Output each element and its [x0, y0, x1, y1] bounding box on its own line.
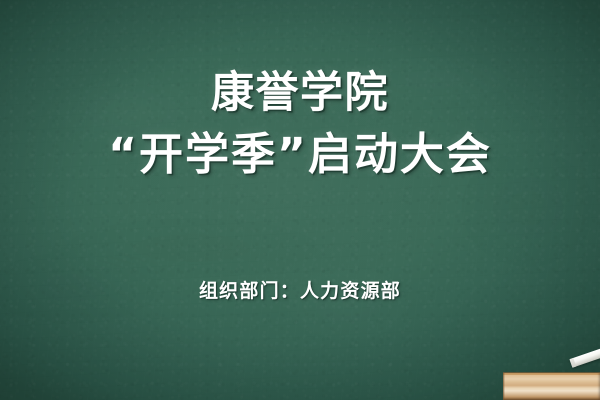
slide-content: 康誉学院 “开学季”启动大会 组织部门：人力资源部 [0, 0, 600, 400]
title-slide: 康誉学院 “开学季”启动大会 组织部门：人力资源部 [0, 0, 600, 400]
slide-title-block: 康誉学院 “开学季”启动大会 [0, 62, 600, 186]
chalk-ledge-left-edge [503, 373, 505, 400]
title-line-1: 康誉学院 [0, 62, 600, 124]
slide-subtitle: 组织部门：人力资源部 [0, 276, 600, 303]
title-line-2: “开学季”启动大会 [0, 124, 600, 186]
chalk-ledge [503, 373, 600, 400]
